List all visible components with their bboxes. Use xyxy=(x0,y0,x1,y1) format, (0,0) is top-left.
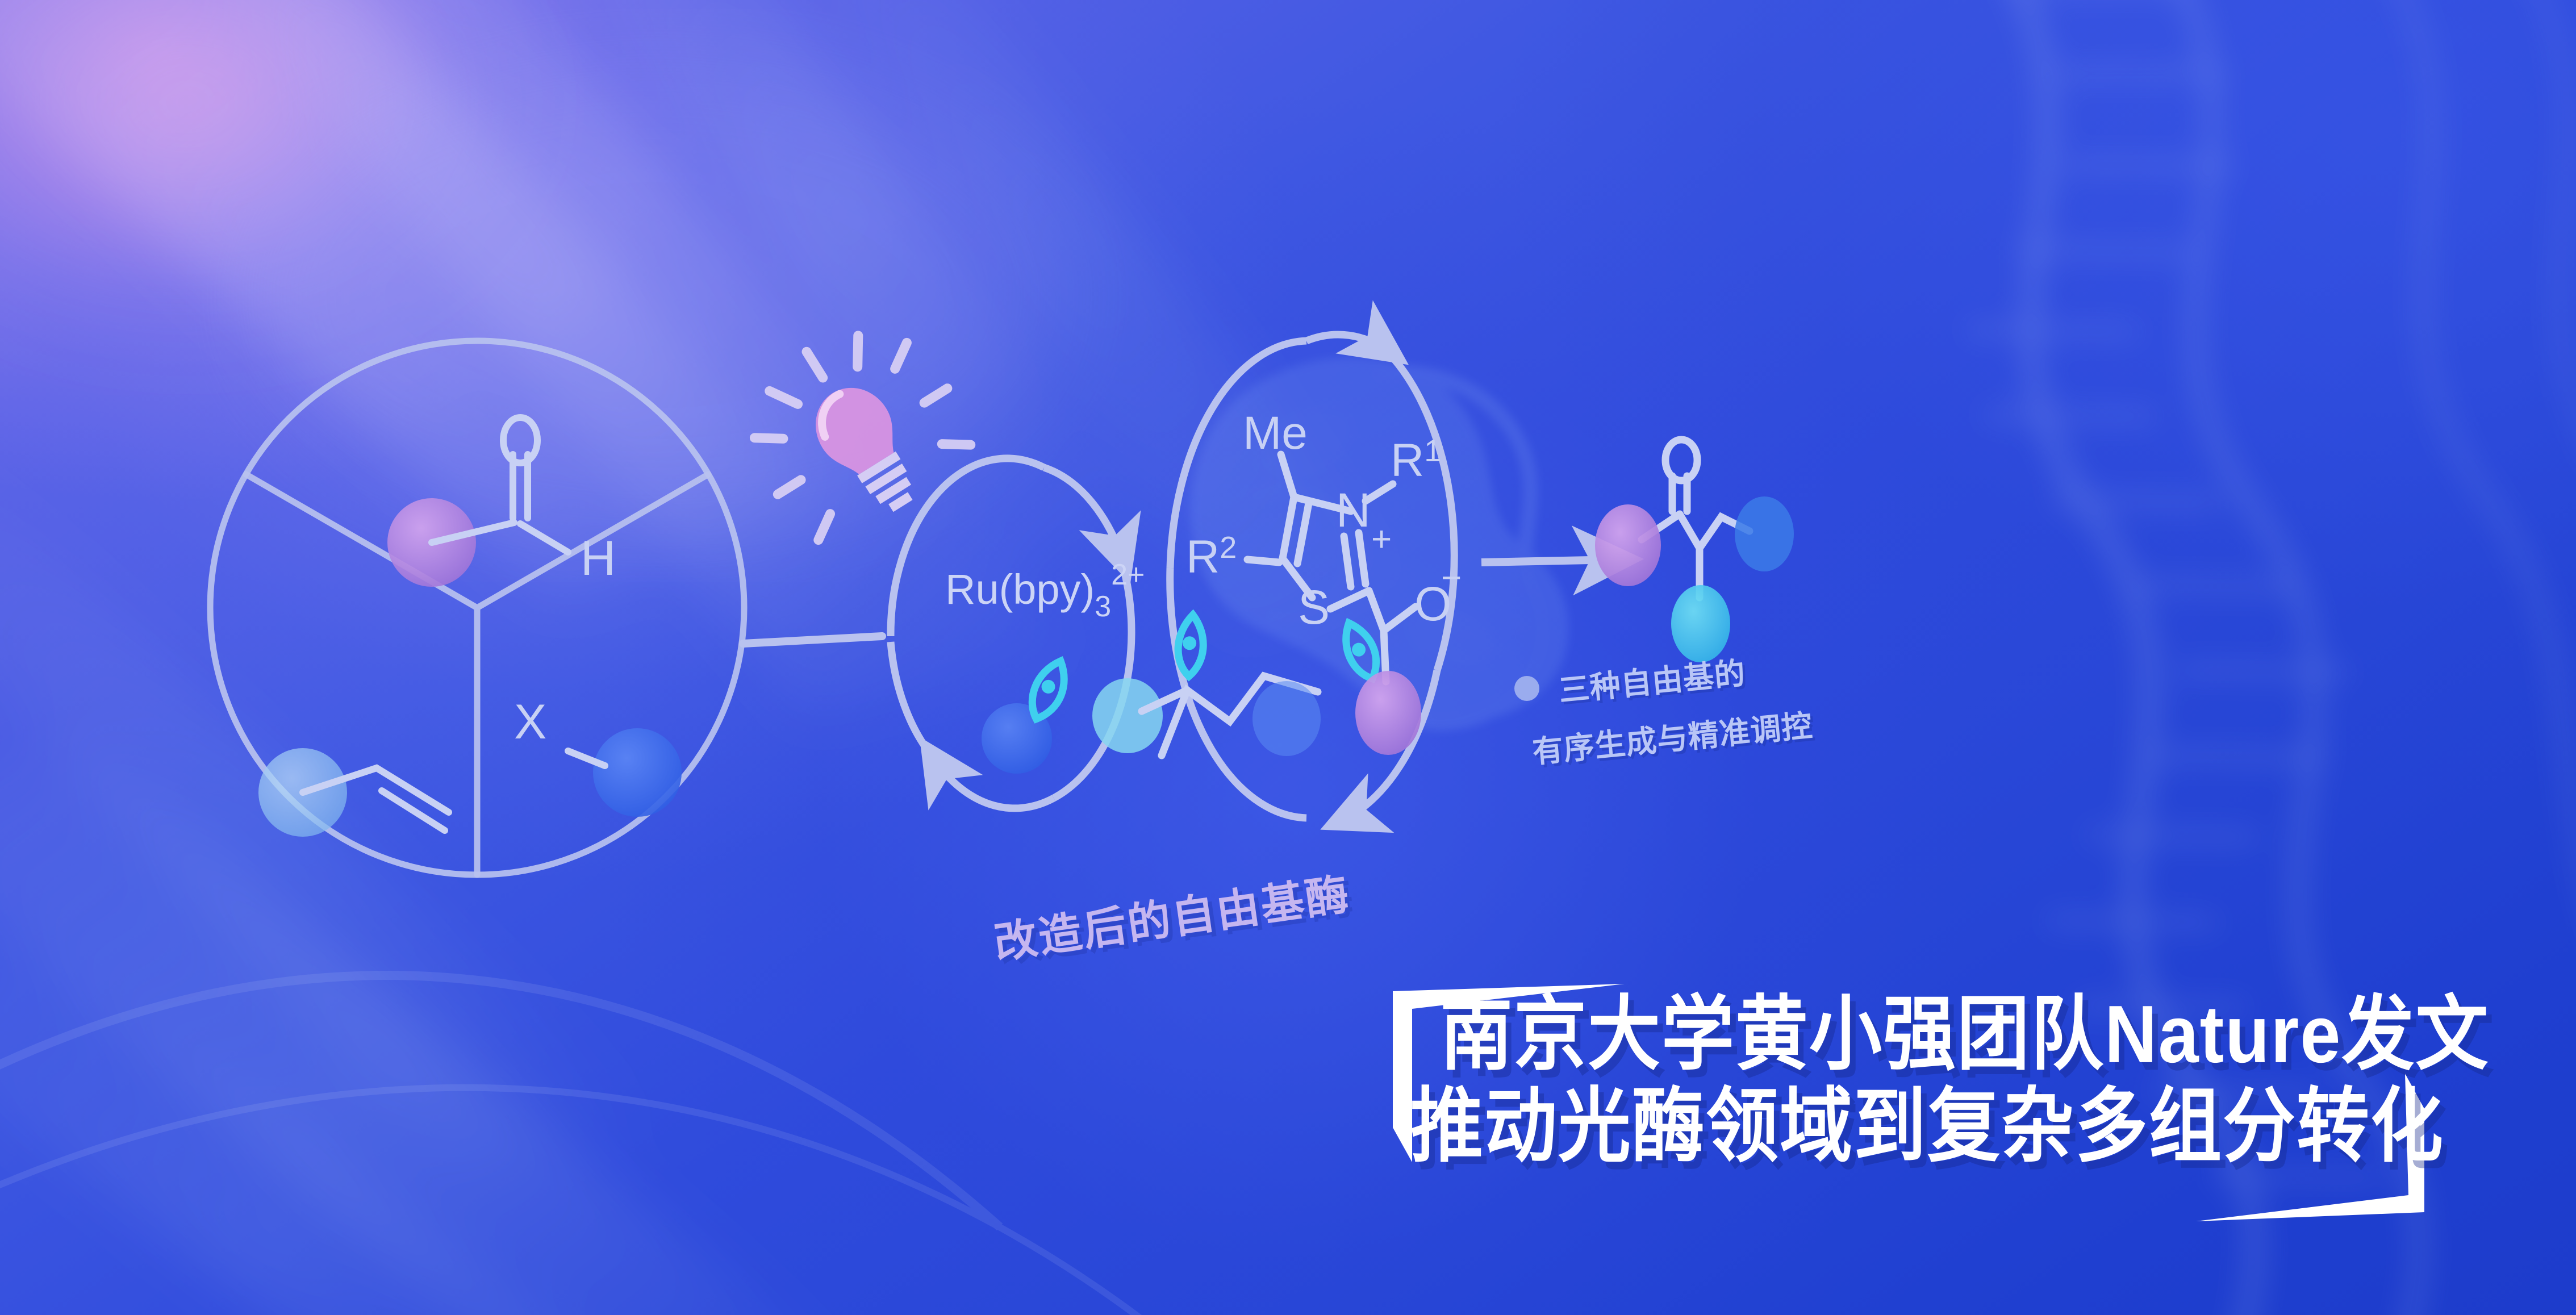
halide-dot xyxy=(593,728,682,817)
methyl-label: Me xyxy=(1243,407,1308,459)
headline-line-2: 推动光酶领域到复杂多组分转化 xyxy=(1410,1086,2444,1167)
glow-top-left xyxy=(0,0,540,347)
photocycle-arrow-top xyxy=(1044,467,1124,562)
sulfur-label: S xyxy=(1298,581,1330,634)
radical-note-line1: 三种自由基的 xyxy=(1556,648,1747,710)
enzyme-purple-dot xyxy=(1355,671,1421,755)
sector-halide: X xyxy=(514,695,682,817)
glow-mid-left xyxy=(244,57,1062,534)
radical-marker-3 xyxy=(1174,613,1208,678)
aldehyde-dot xyxy=(387,498,476,587)
photocycle-arc-left-top xyxy=(891,458,1044,636)
radical-marker-1 xyxy=(1022,656,1075,724)
headline-block: 南京大学黄小强团队Nature发文 推动光酶领域到复杂多组分转化 xyxy=(1395,988,2496,1227)
light-rays-upper xyxy=(0,0,1397,716)
oxygen-minus-charge: − xyxy=(1441,558,1462,598)
photocatalyst-label: Ru(bpy)32+ xyxy=(945,558,1145,623)
product-carbonyl-oxygen xyxy=(1665,440,1697,481)
headline-line-1: 南京大学黄小强团队Nature发文 xyxy=(1440,994,2489,1075)
product-arrow xyxy=(1481,560,1620,562)
enzymecycle-arc-left-lower xyxy=(1170,568,1306,818)
sector-alkene xyxy=(258,748,449,837)
substrate-wheel: H X xyxy=(210,341,744,875)
sector-aldehyde: H xyxy=(387,418,616,587)
product-purple-fragment xyxy=(1595,504,1661,586)
r-two-label: R2 xyxy=(1186,531,1237,583)
annotation-bullet xyxy=(1514,676,1539,701)
aldehyde-h-label: H xyxy=(581,531,616,586)
enzyme-blue-dot xyxy=(1252,681,1321,756)
light-rays-lower xyxy=(0,471,852,1315)
photocycle-blue-dot xyxy=(982,703,1052,774)
lightbulb-rays xyxy=(722,299,979,545)
carbonyl-oxygen-glyph xyxy=(503,418,537,463)
photocycle-cyan-dot xyxy=(1092,678,1163,753)
radical-marker-2 xyxy=(1339,618,1383,683)
dna-helix-secondary xyxy=(2374,0,2576,966)
background-arcs xyxy=(0,975,1147,1315)
product-blue-fragment xyxy=(1735,496,1794,571)
enzyme-silhouette xyxy=(1191,357,1569,724)
nitrogen-label: N xyxy=(1336,483,1371,537)
thiazolium-ring xyxy=(1247,454,1416,682)
lightbulb-icon xyxy=(722,299,986,555)
alkene-dot xyxy=(258,748,347,837)
oxygen-label: O xyxy=(1414,577,1451,631)
photocycle-arc-right-bottom xyxy=(1054,568,1132,798)
halide-x-label: X xyxy=(514,695,546,749)
photocatalyst-cycle: Ru(bpy)32+ xyxy=(891,458,1163,808)
substrate-wheel-outline xyxy=(210,341,744,875)
photocycle-arrow-bottom xyxy=(932,755,1054,808)
enzymecycle-arc-left-upper xyxy=(1170,341,1306,568)
connector-line xyxy=(743,636,882,644)
photocycle-arc-left-bottom xyxy=(891,642,932,755)
r-one-label: R1 xyxy=(1391,434,1441,486)
radical-note-line2: 有序生成与精准调控 xyxy=(1530,700,1814,772)
product-molecule xyxy=(1595,440,1794,662)
enzymecycle-arrow-bottom xyxy=(1341,670,1437,821)
nitrogen-plus-charge: + xyxy=(1371,520,1392,559)
alkyl-chain xyxy=(1142,676,1318,755)
enzymecycle-arrow-top xyxy=(1306,335,1391,352)
banner-poster: H X xyxy=(0,0,2576,1315)
substrate-wheel-dividers xyxy=(246,474,708,875)
enzyme-label: 改造后的自由基酶 xyxy=(990,859,1354,971)
enzyme-cycle: N + S O − Me R1 R2 xyxy=(1142,335,1462,821)
enzymecycle-arc-right xyxy=(1391,355,1454,670)
